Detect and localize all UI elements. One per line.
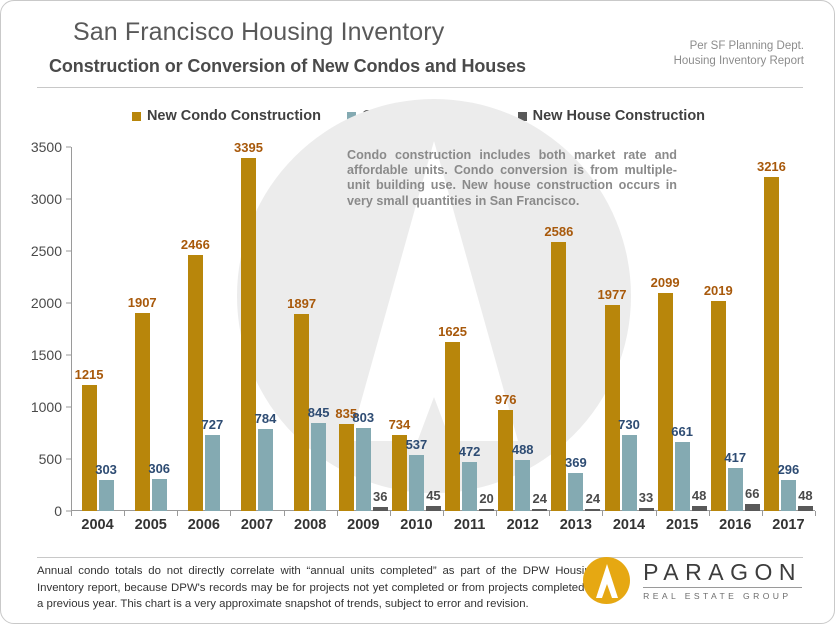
bar-2005-series-1[interactable] — [152, 479, 167, 511]
bar-label-2016-series-0: 2019 — [704, 283, 733, 298]
bar-label-2014-series-0: 1977 — [598, 287, 627, 302]
bar-2015-series-1[interactable] — [675, 442, 690, 511]
x-tick-mark — [177, 511, 178, 516]
paragon-mark-notch — [602, 584, 612, 598]
page-title: San Francisco Housing Inventory — [73, 18, 444, 47]
source-line-1: Per SF Planning Dept. — [674, 39, 804, 54]
x-axis-label-2012: 2012 — [507, 517, 539, 533]
bar-2005-series-0[interactable] — [135, 313, 150, 511]
x-axis-label-2006: 2006 — [188, 517, 220, 533]
bar-2015-series-0[interactable] — [658, 293, 673, 511]
header: San Francisco Housing Inventory Construc… — [1, 1, 835, 93]
x-axis-labels: 2004200520062007200820092010201120122013… — [71, 517, 815, 543]
bar-label-2013-series-2: 24 — [586, 491, 600, 506]
bar-label-2009-series-1: 803 — [352, 410, 374, 425]
bar-2006-series-0[interactable] — [188, 255, 203, 511]
brand-logo: PARAGON REAL ESTATE GROUP — [583, 557, 802, 604]
plot-area: Condo construction includes both market … — [1, 133, 835, 543]
y-tick-label-7: 3500 — [31, 139, 71, 155]
bar-label-2012-series-1: 488 — [512, 442, 534, 457]
brand-text: PARAGON REAL ESTATE GROUP — [643, 560, 802, 602]
x-tick-mark — [602, 511, 603, 516]
paragon-mark-icon — [583, 557, 630, 604]
x-axis-label-2007: 2007 — [241, 517, 273, 533]
bar-2010-series-1[interactable] — [409, 455, 424, 511]
bar-2009-series-1[interactable] — [356, 428, 371, 512]
bar-label-2016-series-1: 417 — [724, 450, 746, 465]
bar-label-2014-series-2: 33 — [639, 490, 653, 505]
bar-label-2009-series-2: 36 — [373, 489, 387, 504]
x-axis-label-2013: 2013 — [560, 517, 592, 533]
footnote-text: Annual condo totals do not directly corr… — [37, 563, 597, 613]
bar-2011-series-2[interactable] — [479, 509, 494, 511]
legend-label: New Condo Construction — [147, 108, 321, 124]
bar-2009-series-0[interactable] — [339, 424, 354, 511]
page-subtitle: Construction or Conversion of New Condos… — [49, 56, 526, 77]
x-axis-label-2015: 2015 — [666, 517, 698, 533]
bar-2017-series-1[interactable] — [781, 480, 796, 511]
x-axis-label-2009: 2009 — [347, 517, 379, 533]
brand-name: PARAGON — [643, 560, 802, 585]
bar-2017-series-0[interactable] — [764, 177, 779, 511]
x-axis-label-2010: 2010 — [400, 517, 432, 533]
bar-2004-series-0[interactable] — [82, 385, 97, 511]
bar-2007-series-1[interactable] — [258, 429, 273, 511]
bar-label-2007-series-0: 3395 — [234, 140, 263, 155]
bar-2017-series-2[interactable] — [798, 506, 813, 511]
bar-label-2011-series-0: 1625 — [438, 324, 467, 339]
x-tick-mark — [709, 511, 710, 516]
legend-item-2[interactable]: New House Construction — [518, 108, 705, 124]
x-tick-mark — [230, 511, 231, 516]
bar-2016-series-2[interactable] — [745, 504, 760, 511]
source-line-2: Housing Inventory Report — [674, 54, 804, 69]
bar-label-2010-series-0: 734 — [389, 417, 411, 432]
bar-label-2006-series-0: 2466 — [181, 237, 210, 252]
brand-divider — [643, 587, 802, 588]
legend-swatch-icon — [132, 112, 141, 121]
legend-label: New House Construction — [533, 108, 705, 124]
bar-label-2004-series-1: 303 — [95, 462, 117, 477]
bar-2012-series-2[interactable] — [532, 509, 547, 511]
bar-label-2012-series-2: 24 — [532, 491, 546, 506]
bar-label-2008-series-0: 1897 — [287, 296, 316, 311]
bar-2015-series-2[interactable] — [692, 506, 707, 511]
bar-2012-series-1[interactable] — [515, 460, 530, 511]
bar-2008-series-1[interactable] — [311, 423, 326, 511]
y-tick-label-5: 2500 — [31, 243, 71, 259]
bar-2014-series-1[interactable] — [622, 435, 637, 511]
bar-2013-series-1[interactable] — [568, 473, 583, 511]
header-divider — [37, 87, 803, 88]
bar-2004-series-1[interactable] — [99, 480, 114, 512]
bar-2014-series-0[interactable] — [605, 305, 620, 511]
bar-2011-series-1[interactable] — [462, 462, 477, 511]
bar-label-2015-series-2: 48 — [692, 488, 706, 503]
bar-label-2012-series-0: 976 — [495, 392, 517, 407]
bar-2010-series-2[interactable] — [426, 506, 441, 511]
bar-label-2008-series-1: 845 — [308, 405, 330, 420]
bar-2009-series-2[interactable] — [373, 507, 388, 511]
x-axis-label-2017: 2017 — [772, 517, 804, 533]
x-tick-mark — [496, 511, 497, 516]
bar-label-2017-series-1: 296 — [778, 462, 800, 477]
x-tick-mark — [762, 511, 763, 516]
bar-label-2010-series-2: 45 — [426, 488, 440, 503]
bar-2013-series-2[interactable] — [585, 509, 600, 511]
bar-2014-series-2[interactable] — [639, 508, 654, 511]
bar-label-2011-series-2: 20 — [479, 491, 493, 506]
x-tick-mark — [815, 511, 816, 516]
chart-page: San Francisco Housing Inventory Construc… — [0, 0, 835, 624]
x-tick-mark — [124, 511, 125, 516]
bar-2013-series-0[interactable] — [551, 242, 566, 511]
axis-area: 0500100015002000250030003500 12153031907… — [71, 147, 815, 511]
brand-tagline: REAL ESTATE GROUP — [643, 590, 802, 602]
x-axis-label-2014: 2014 — [613, 517, 645, 533]
x-axis-label-2004: 2004 — [81, 517, 113, 533]
bar-label-2017-series-0: 3216 — [757, 159, 786, 174]
bar-label-2013-series-1: 369 — [565, 455, 587, 470]
bar-label-2005-series-0: 1907 — [128, 295, 157, 310]
bar-2016-series-1[interactable] — [728, 468, 743, 511]
bar-2016-series-0[interactable] — [711, 301, 726, 511]
bar-label-2005-series-1: 306 — [148, 461, 170, 476]
bars-layer: 1215303190730624667273395784189784583580… — [71, 147, 815, 511]
source-attribution: Per SF Planning Dept. Housing Inventory … — [674, 39, 804, 68]
bar-2006-series-1[interactable] — [205, 435, 220, 511]
bar-label-2016-series-2: 66 — [745, 486, 759, 501]
x-tick-mark — [443, 511, 444, 516]
bar-label-2017-series-2: 48 — [798, 488, 812, 503]
y-tick-label-3: 1500 — [31, 347, 71, 363]
x-tick-mark — [656, 511, 657, 516]
legend-item-0[interactable]: New Condo Construction — [132, 108, 321, 124]
x-axis-label-2008: 2008 — [294, 517, 326, 533]
x-axis-label-2016: 2016 — [719, 517, 751, 533]
y-tick-label-4: 2000 — [31, 295, 71, 311]
bar-label-2004-series-0: 1215 — [75, 367, 104, 382]
x-tick-mark — [337, 511, 338, 516]
bar-label-2007-series-1: 784 — [255, 411, 277, 426]
x-tick-mark — [284, 511, 285, 516]
x-tick-mark — [71, 511, 72, 516]
y-tick-label-6: 3000 — [31, 191, 71, 207]
x-axis-label-2011: 2011 — [454, 517, 485, 533]
bar-label-2013-series-0: 2586 — [544, 224, 573, 239]
bar-label-2015-series-0: 2099 — [651, 275, 680, 290]
bar-2007-series-0[interactable] — [241, 158, 256, 511]
bar-2011-series-0[interactable] — [445, 342, 460, 511]
bar-2012-series-0[interactable] — [498, 410, 513, 512]
x-tick-mark — [390, 511, 391, 516]
bar-label-2010-series-1: 537 — [406, 437, 428, 452]
bar-label-2015-series-1: 661 — [671, 424, 693, 439]
bar-label-2011-series-1: 472 — [459, 444, 481, 459]
y-tick-label-2: 1000 — [31, 399, 71, 415]
x-axis-label-2005: 2005 — [135, 517, 167, 533]
bar-label-2014-series-1: 730 — [618, 417, 640, 432]
bar-label-2006-series-1: 727 — [201, 417, 223, 432]
x-tick-mark — [549, 511, 550, 516]
